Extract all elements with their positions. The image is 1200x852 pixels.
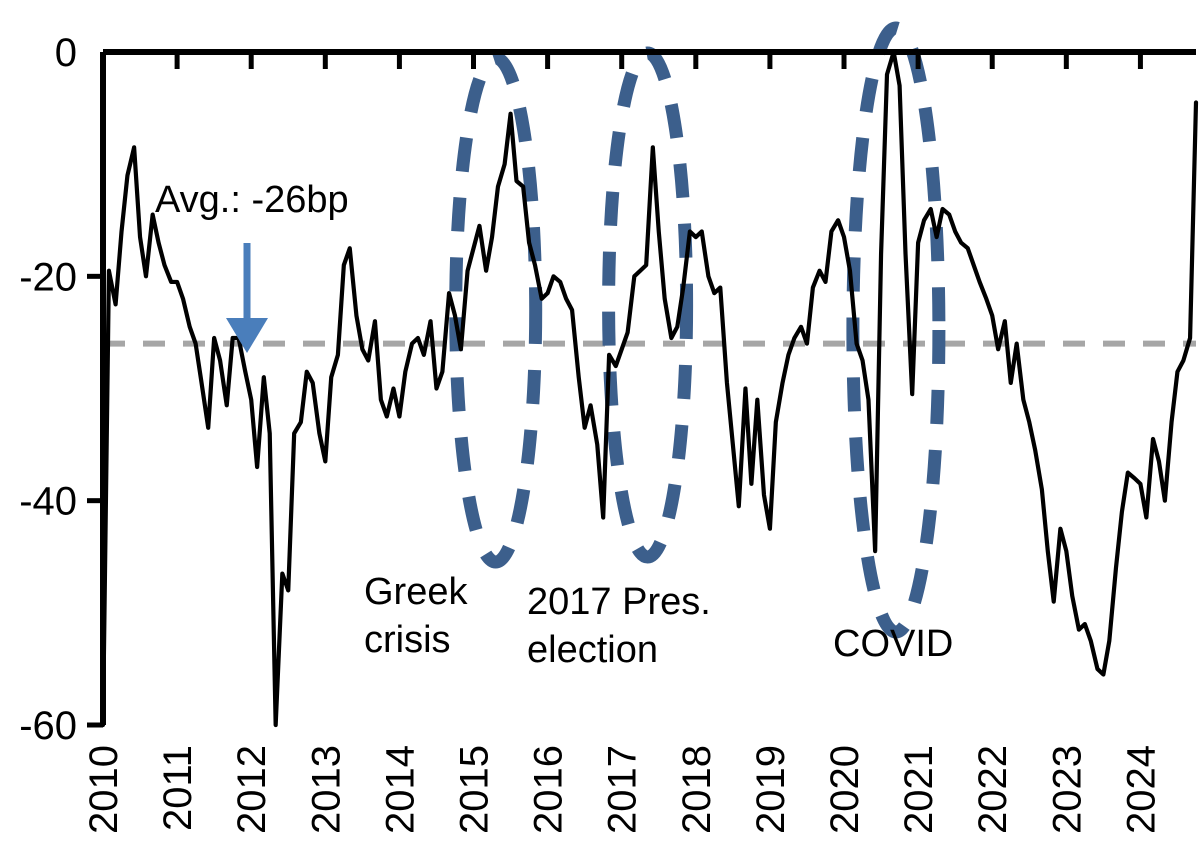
average-annotation-label: Avg.: -26bp — [155, 179, 349, 221]
chart-background — [0, 0, 1200, 852]
greek-crisis-label-line1: Greek — [364, 571, 468, 613]
greek-crisis-label-line2: crisis — [364, 619, 451, 661]
x-tick-label-2022: 2022 — [971, 745, 1015, 834]
x-tick-label-2018: 2018 — [675, 745, 719, 834]
election-label-line2: election — [527, 629, 658, 671]
x-tick-label-2012: 2012 — [230, 745, 274, 834]
y-tick-label-neg40: -40 — [19, 480, 77, 524]
chart-canvas: 0-20-40-60 20102011201220132014201520162… — [0, 0, 1200, 852]
line-chart: 0-20-40-60 20102011201220132014201520162… — [0, 0, 1200, 852]
x-tick-label-2019: 2019 — [749, 745, 793, 834]
x-axis-tick-labels: 2010201120122013201420152016201720182019… — [82, 745, 1163, 834]
y-tick-label-neg60: -60 — [19, 704, 77, 748]
covid-label: COVID — [833, 623, 953, 665]
x-tick-label-2021: 2021 — [897, 745, 941, 834]
election-label-line1: 2017 Pres. — [527, 581, 711, 623]
x-tick-label-2011: 2011 — [156, 745, 200, 831]
x-tick-label-2013: 2013 — [304, 745, 348, 834]
x-tick-label-2023: 2023 — [1045, 745, 1089, 834]
x-tick-label-2015: 2015 — [453, 745, 497, 834]
x-tick-label-2014: 2014 — [378, 745, 422, 834]
y-tick-label-neg20: -20 — [19, 255, 77, 299]
y-tick-label-0: 0 — [55, 31, 77, 75]
x-tick-label-2017: 2017 — [601, 745, 645, 834]
x-tick-label-2010: 2010 — [82, 745, 126, 834]
x-tick-label-2016: 2016 — [527, 745, 571, 834]
x-tick-label-2024: 2024 — [1119, 745, 1163, 834]
x-tick-label-2020: 2020 — [823, 745, 867, 834]
